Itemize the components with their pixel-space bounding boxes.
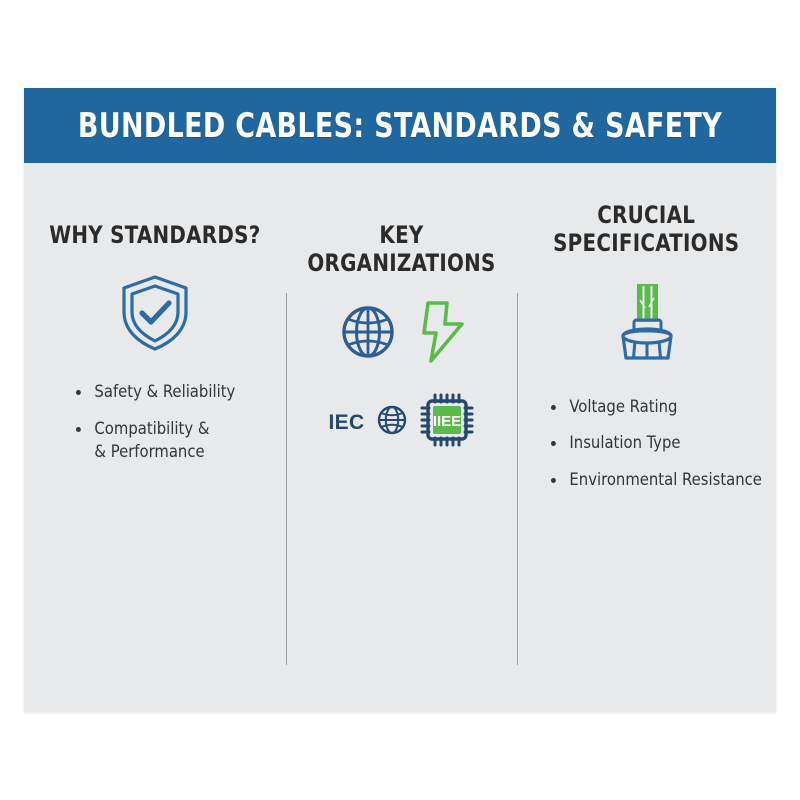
list-item: Insulation Type (551, 432, 762, 455)
globe-small-icon (376, 404, 408, 441)
list-item: Safety & Reliability (76, 381, 235, 404)
column-heading-key-organizations: KEY ORGANIZATIONS (295, 221, 508, 278)
organization-icons-row-top (338, 300, 466, 370)
column-key-organizations: KEY ORGANIZATIONS (286, 163, 517, 623)
page-title: BUNDLED CABLES: STANDARDS & SAFETY (78, 106, 722, 146)
list-item: Compatibility & & Performance (76, 418, 235, 465)
column-heading-why-standards: WHY STANDARDS? (49, 221, 260, 249)
cable-bundle-icon (607, 280, 687, 364)
list-item: Environmental Resistance (551, 469, 762, 492)
column-crucial-specifications: CRUCIAL SPECIFICATIONS (517, 163, 776, 623)
header-bar: BUNDLED CABLES: STANDARDS & SAFETY (24, 88, 776, 163)
columns-container: WHY STANDARDS? Safety & Reliability Comp… (24, 163, 776, 623)
ieee-chip-label: IIEE (433, 413, 461, 430)
lightning-bolt-icon (420, 300, 466, 369)
shield-check-icon (116, 271, 194, 355)
list-item: Voltage Rating (551, 396, 762, 419)
bullet-list-why-standards: Safety & Reliability Compatibility & & P… (76, 381, 240, 477)
ieee-chip-icon: IIEE (420, 393, 474, 452)
bullet-list-crucial-specifications: Voltage Rating Insulation Type Environme… (551, 396, 768, 505)
column-heading-crucial-specifications: CRUCIAL SPECIFICATIONS (553, 201, 739, 258)
organization-icons-row-bottom: IEC (329, 394, 475, 452)
infographic-card: BUNDLED CABLES: STANDARDS & SAFETY WHY S… (24, 88, 776, 712)
column-why-standards: WHY STANDARDS? Safety & Reliability Comp… (24, 163, 286, 623)
globe-icon (338, 302, 398, 367)
iec-logo-text: IEC (329, 411, 365, 435)
